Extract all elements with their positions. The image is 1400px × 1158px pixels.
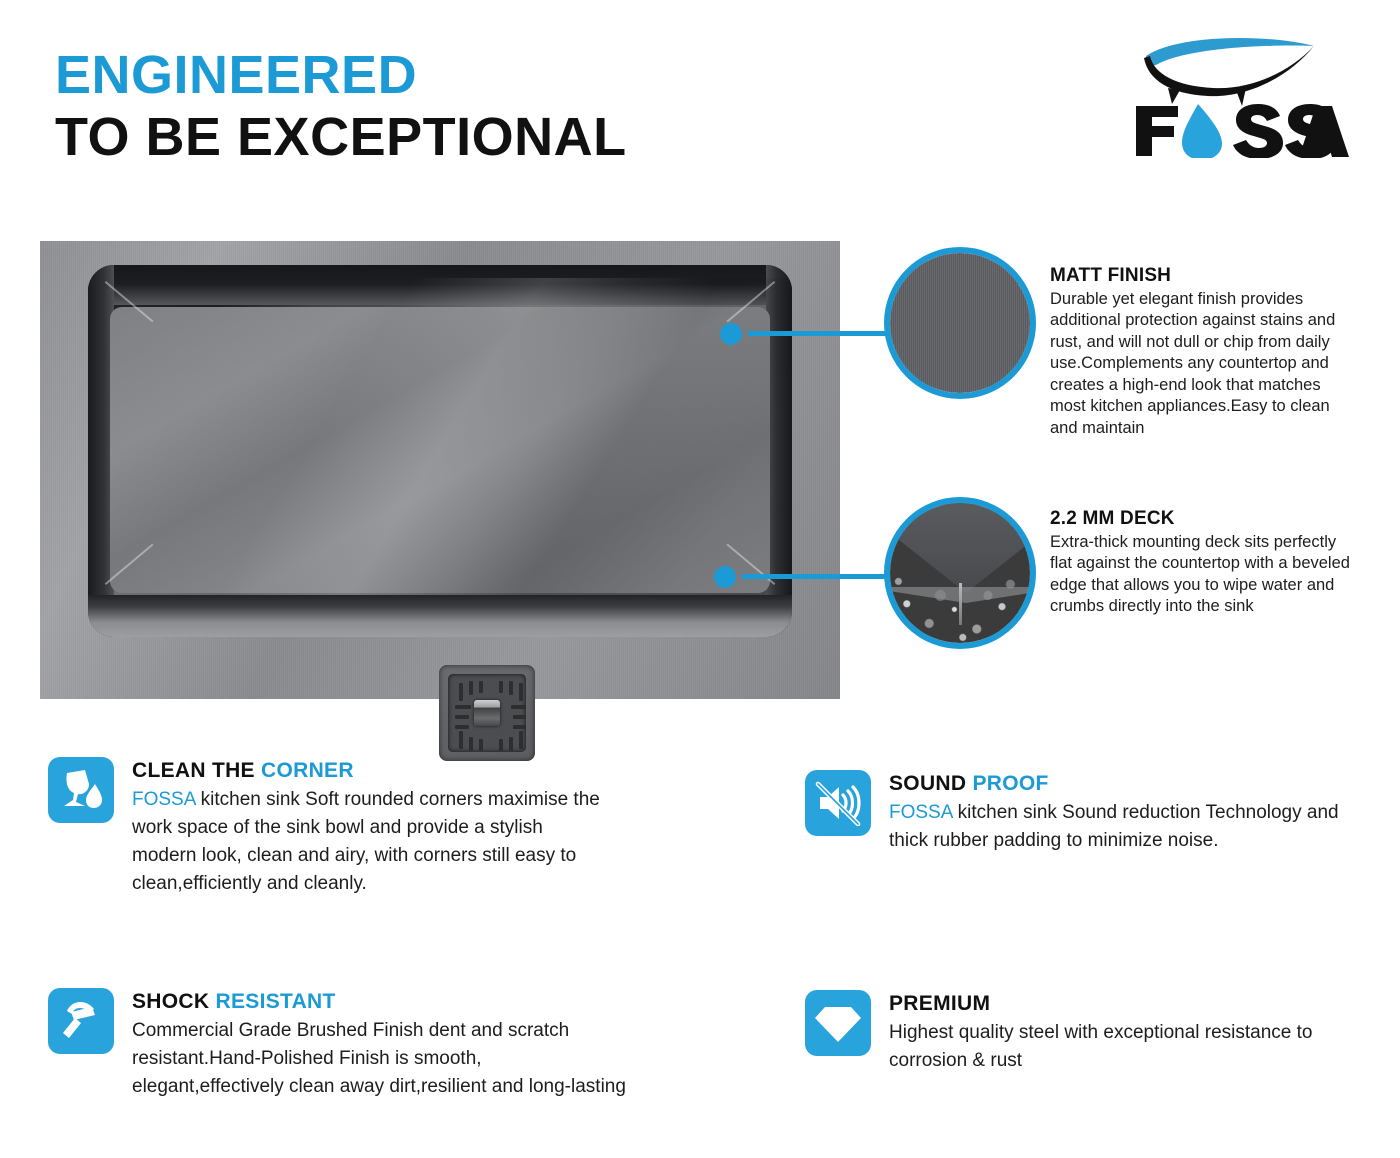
- drain-grate: [448, 674, 526, 752]
- feature-text-sound-proof: FOSSA kitchen sink Sound reduction Techn…: [889, 799, 1365, 855]
- feature-title-accent: RESISTANT: [215, 990, 335, 1013]
- feature-body-premium: PREMIUM Highest quality steel with excep…: [889, 990, 1365, 1075]
- fossa-logo-mark: [1118, 28, 1350, 158]
- feature-title-shock-resistant: SHOCK RESISTANT: [132, 990, 633, 1014]
- feature-body-sound-proof: SOUND PROOF FOSSA kitchen sink Sound red…: [889, 770, 1365, 855]
- callout-swatch-matt-finish: [884, 247, 1036, 399]
- matt-finish-texture: [890, 253, 1030, 393]
- feature-body-shock-resistant: SHOCK RESISTANT Commercial Grade Brushed…: [132, 988, 633, 1101]
- reflection-sheen: [88, 278, 792, 637]
- feature-text-premium: Highest quality steel with exceptional r…: [889, 1019, 1365, 1075]
- feature-shock-resistant: SHOCK RESISTANT Commercial Grade Brushed…: [48, 988, 633, 1101]
- drain-stopper: [474, 700, 500, 726]
- sink-product-image: [40, 241, 840, 699]
- leader-line-matt-finish: [748, 331, 888, 336]
- headline-line-1: ENGINEERED: [55, 48, 627, 103]
- leader-dot-matt-finish: [720, 323, 742, 345]
- feature-title-accent: PROOF: [972, 772, 1048, 795]
- feature-title-dark: CLEAN THE: [132, 759, 261, 782]
- feature-premium: PREMIUM Highest quality steel with excep…: [805, 990, 1365, 1075]
- feature-paragraph: kitchen sink Sound reduction Technology …: [889, 802, 1339, 851]
- diamond-icon: [805, 990, 871, 1056]
- feature-clean-the-corner: CLEAN THE CORNER FOSSA kitchen sink Soft…: [48, 757, 608, 898]
- callout-deck: 2.2 MM DECK Extra-thick mounting deck si…: [1050, 508, 1350, 618]
- basin-floor: [110, 307, 770, 593]
- feature-title-accent: CORNER: [261, 759, 354, 782]
- sink-basin: [88, 265, 792, 637]
- feature-title-dark: SOUND: [889, 772, 972, 795]
- callout-matt-finish: MATT FINISH Durable yet elegant finish p…: [1050, 265, 1350, 439]
- feature-paragraph: kitchen sink Soft rounded corners maximi…: [132, 789, 600, 894]
- feature-sound-proof: SOUND PROOF FOSSA kitchen sink Sound red…: [805, 770, 1365, 855]
- deck-seam: [959, 583, 962, 625]
- leader-dot-deck: [714, 566, 736, 588]
- brand-mention: FOSSA: [889, 802, 952, 823]
- glass-droplet-icon: [48, 757, 114, 823]
- callout-title-matt-finish: MATT FINISH: [1050, 265, 1350, 287]
- mute-speaker-icon: [805, 770, 871, 836]
- leader-line-deck: [742, 574, 888, 579]
- feature-title-premium: PREMIUM: [889, 992, 1365, 1016]
- feature-paragraph: Commercial Grade Brushed Finish dent and…: [132, 1020, 626, 1097]
- page-title: ENGINEERED TO BE EXCEPTIONAL: [55, 48, 627, 166]
- square-drain-icon: [439, 665, 535, 761]
- basin-wall-bottom: [88, 595, 792, 637]
- callout-body-deck: Extra-thick mounting deck sits perfectly…: [1050, 532, 1350, 618]
- feature-title-sound-proof: SOUND PROOF: [889, 772, 1365, 796]
- feature-title-dark: PREMIUM: [889, 992, 990, 1015]
- feature-title-clean-the-corner: CLEAN THE CORNER: [132, 759, 608, 783]
- feature-text-clean-the-corner: FOSSA kitchen sink Soft rounded corners …: [132, 786, 608, 898]
- feature-text-shock-resistant: Commercial Grade Brushed Finish dent and…: [132, 1017, 633, 1101]
- headline-line-2: TO BE EXCEPTIONAL: [55, 109, 627, 166]
- fossa-logo: [1118, 28, 1350, 158]
- brand-mention: FOSSA: [132, 789, 195, 810]
- feature-title-dark: SHOCK: [132, 990, 215, 1013]
- callout-title-deck: 2.2 MM DECK: [1050, 508, 1350, 530]
- hammer-icon: [48, 988, 114, 1054]
- corner-fold-top-left: [106, 281, 164, 339]
- feature-paragraph: Highest quality steel with exceptional r…: [889, 1022, 1313, 1071]
- product-feature-page: ENGINEERED TO BE EXCEPTIONAL: [0, 0, 1400, 1158]
- feature-body-clean-the-corner: CLEAN THE CORNER FOSSA kitchen sink Soft…: [132, 757, 608, 898]
- callout-body-matt-finish: Durable yet elegant finish provides addi…: [1050, 289, 1350, 439]
- corner-fold-bottom-left: [106, 527, 164, 585]
- callout-swatch-deck: [884, 497, 1036, 649]
